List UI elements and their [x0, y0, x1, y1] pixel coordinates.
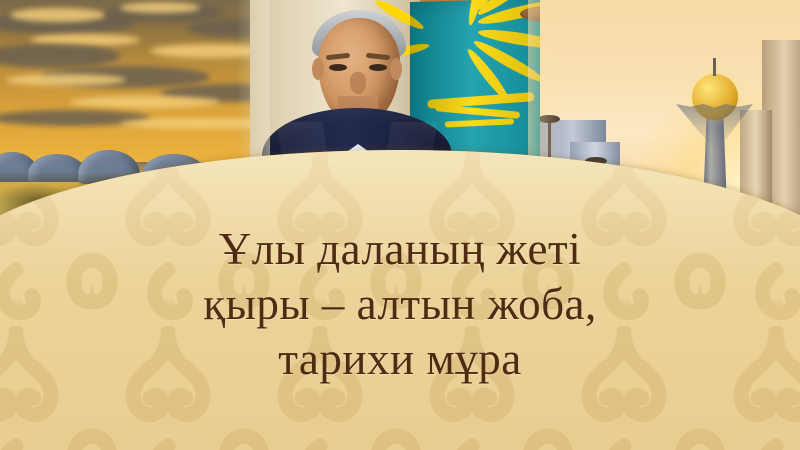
headline-line-3: тарихи мұра: [0, 332, 800, 387]
poster-canvas: Ұлы даланың жеті қыры – алтын жоба, тари…: [0, 0, 800, 450]
headline-line-1: Ұлы даланың жеті: [0, 222, 800, 277]
headline-line-2: қыры – алтын жоба,: [0, 277, 800, 332]
headline-text: Ұлы даланың жеті қыры – алтын жоба, тари…: [0, 222, 800, 387]
